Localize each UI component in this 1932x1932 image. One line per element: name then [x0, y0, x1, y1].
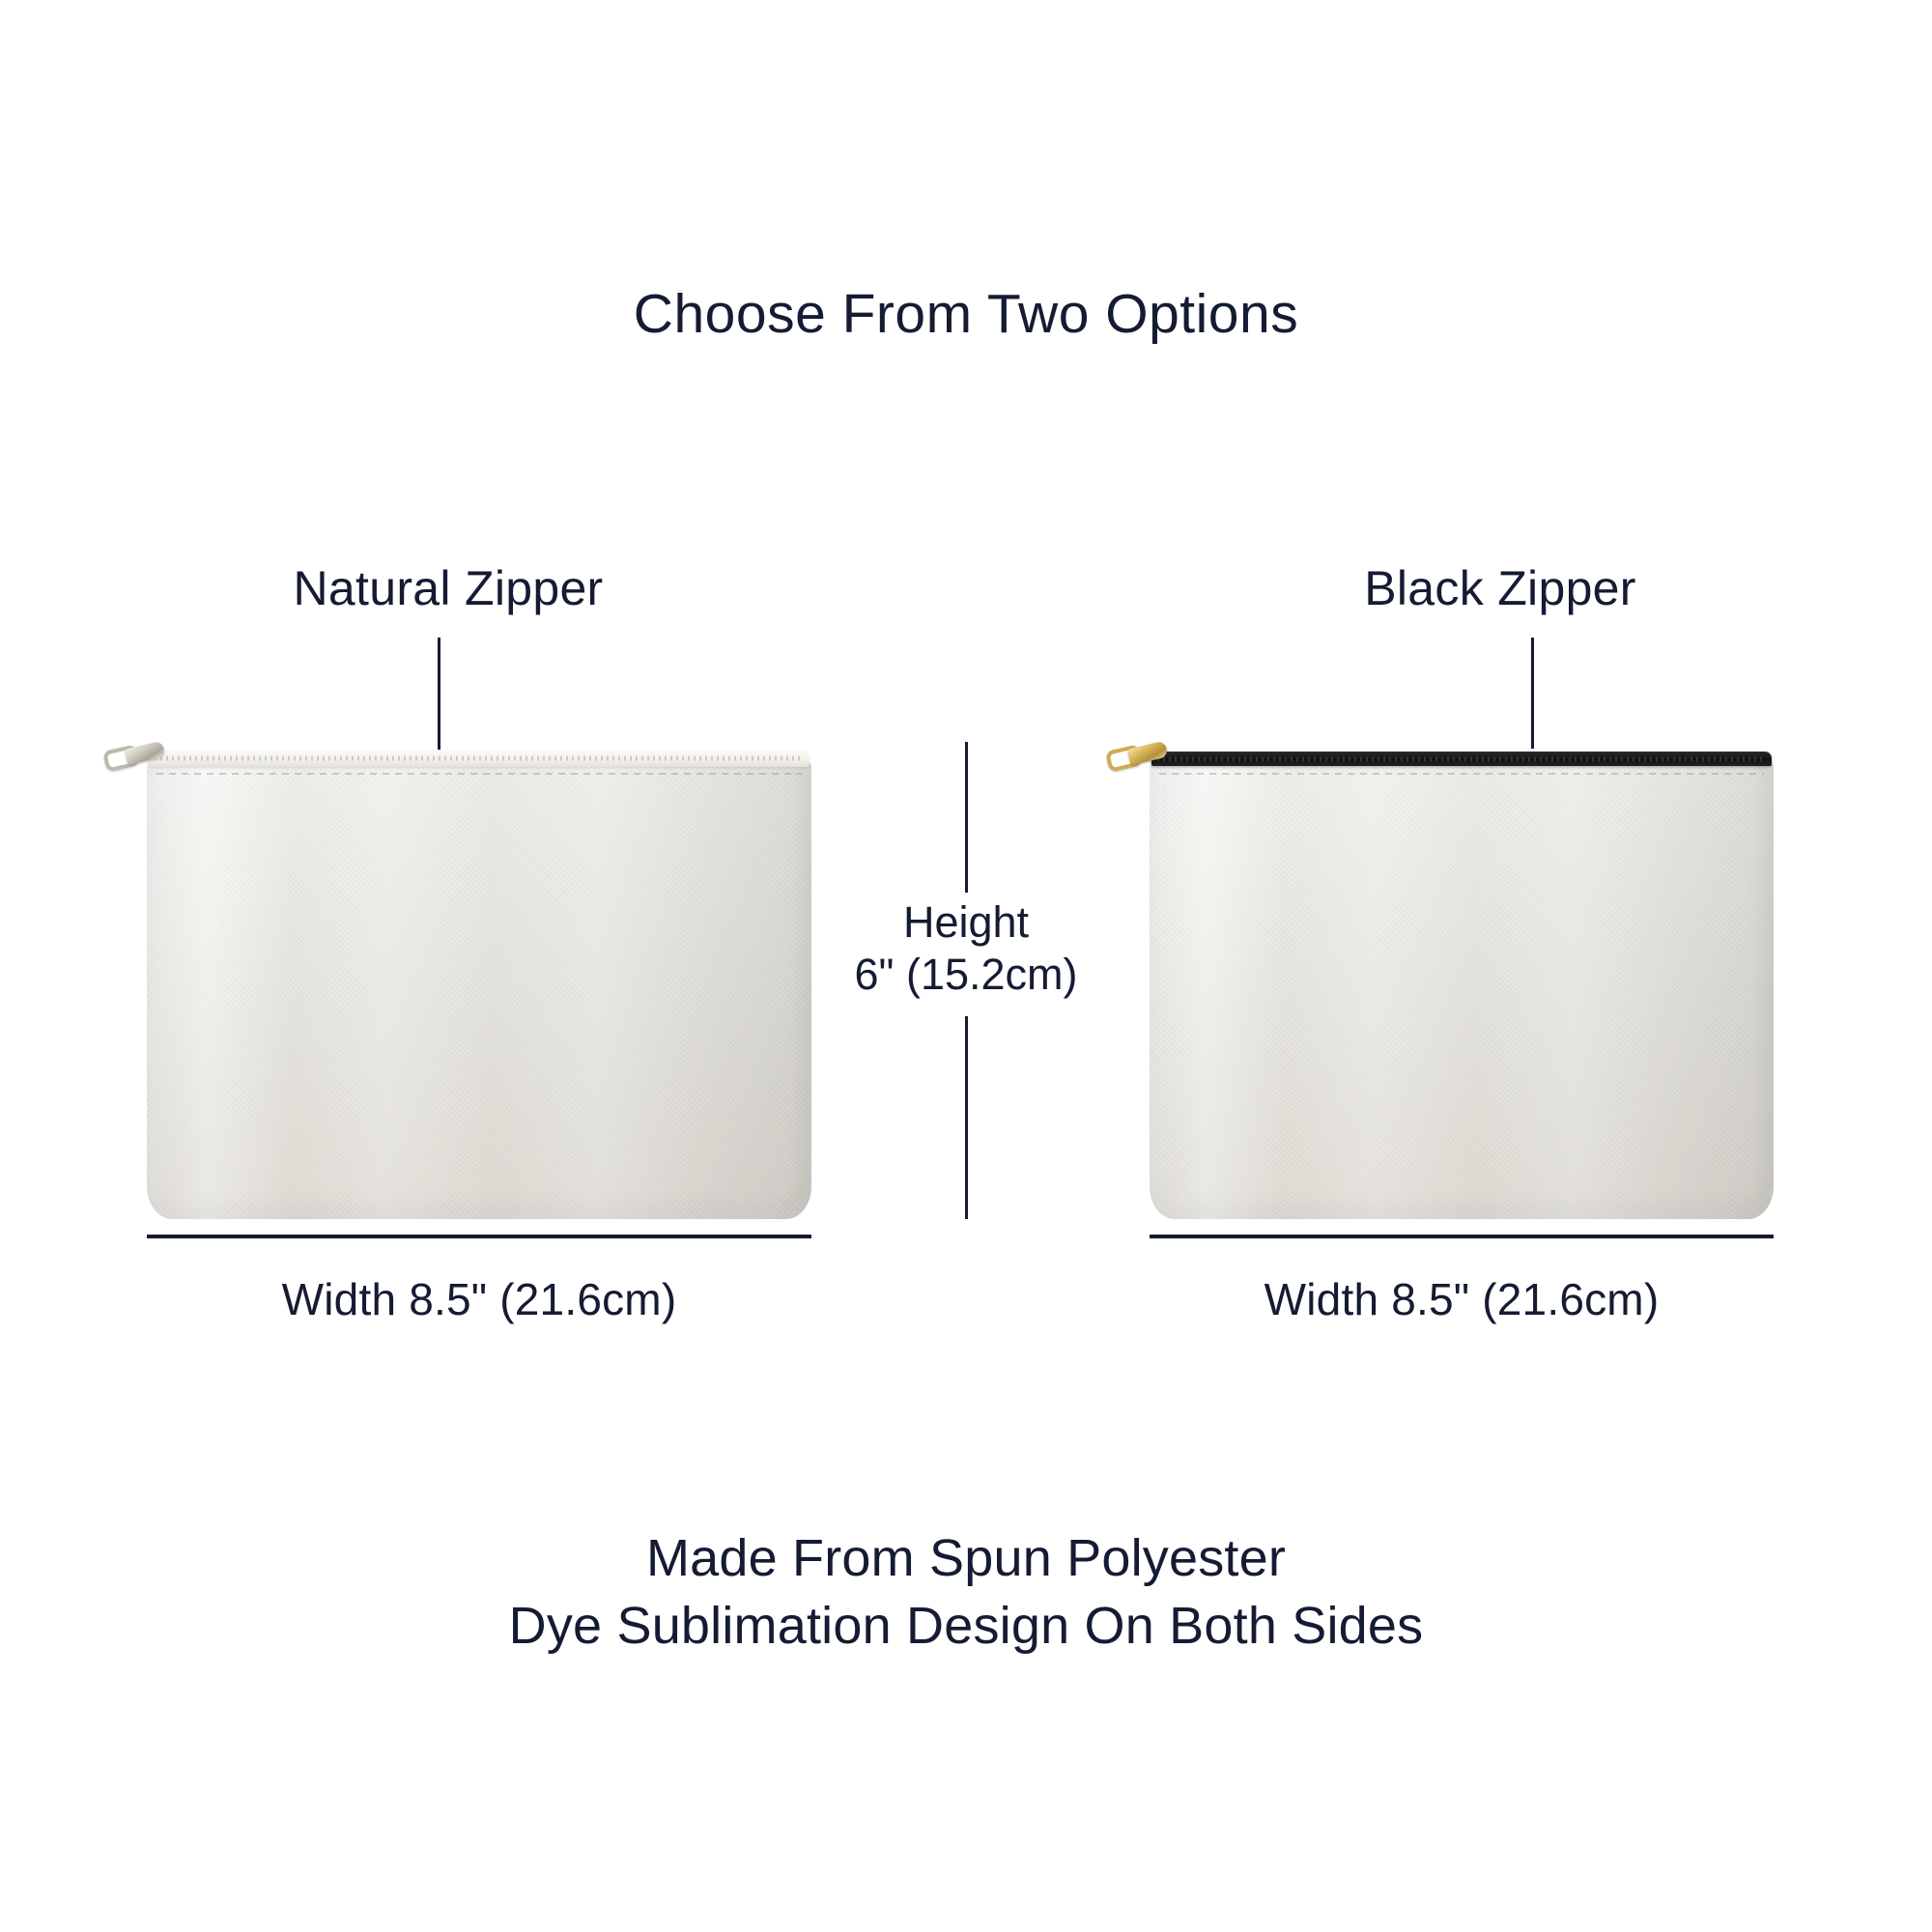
stitch-line: [156, 773, 802, 775]
zipper-pull-body: [125, 741, 166, 766]
width-dimension-line-right: [1150, 1235, 1774, 1238]
height-dimension-label: Height 6" (15.2cm): [734, 896, 1198, 1001]
height-word: Height: [734, 896, 1198, 949]
stitch-line: [1159, 773, 1764, 775]
page-title: Choose From Two Options: [0, 283, 1932, 347]
pouch-natural-zipper: [147, 736, 811, 1219]
footer-line-2: Dye Sublimation Design On Both Sides: [0, 1592, 1932, 1660]
zipper-tape-black: [1151, 752, 1772, 766]
width-dimension-line-left: [147, 1235, 811, 1238]
zipper-pull-icon: [1107, 738, 1167, 767]
zipper-pull-icon: [104, 738, 164, 767]
option-label-natural: Natural Zipper: [158, 562, 738, 615]
pouch-body: [147, 761, 811, 1219]
footer-text: Made From Spun Polyester Dye Sublimation…: [0, 1524, 1932, 1660]
zipper-pull-body: [1127, 741, 1169, 766]
option-label-black: Black Zipper: [1210, 562, 1790, 615]
pouch-black-zipper: [1150, 736, 1774, 1219]
width-dimension-label-left: Width 8.5" (21.6cm): [93, 1273, 866, 1325]
height-dimension-line-bottom: [965, 1016, 968, 1219]
height-dimension-line-top: [965, 742, 968, 893]
width-dimension-label-right: Width 8.5" (21.6cm): [1075, 1273, 1848, 1325]
footer-line-1: Made From Spun Polyester: [0, 1524, 1932, 1592]
leader-line-black: [1531, 638, 1534, 749]
pouch-body: [1150, 761, 1774, 1219]
product-infographic: Choose From Two Options Natural Zipper B…: [0, 0, 1932, 1932]
height-value: 6" (15.2cm): [734, 949, 1198, 1001]
zipper-tape-natural: [149, 750, 810, 767]
